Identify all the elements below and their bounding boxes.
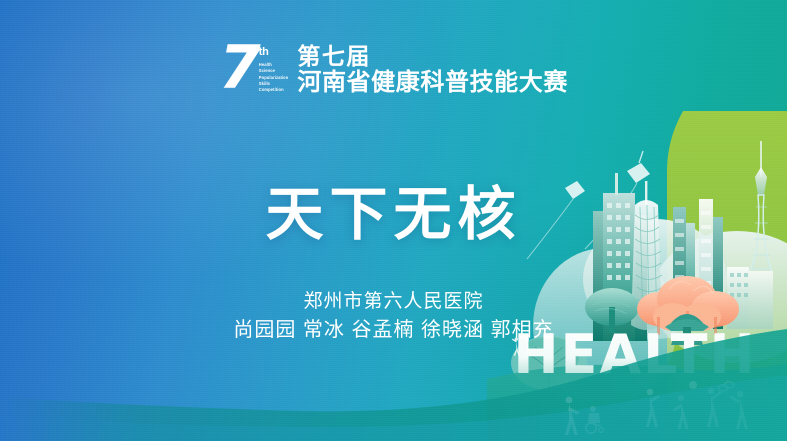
presenter-names: 尚园园 常冰 谷孟楠 徐晓涵 郭相充: [0, 316, 787, 345]
english-line-1: Health: [259, 62, 289, 67]
edition-badge: 7 th Health Science Popularization Skill…: [219, 44, 288, 93]
organization-name: 郑州市第六人民医院: [0, 288, 787, 316]
event-title-line-2: 河南省健康科普技能大赛: [297, 71, 568, 95]
english-subtitle-lines: Health Science Popularization Skills Com…: [259, 62, 289, 92]
english-line-5: Competition: [259, 87, 289, 92]
english-line-2: Science: [259, 68, 289, 73]
event-logo-lockup: 7 th Health Science Popularization Skill…: [0, 44, 787, 95]
event-title-line-1: 第七届: [297, 45, 568, 68]
credits-block: 郑州市第六人民医院 尚园园 常冰 谷孟楠 徐晓涵 郭相充: [0, 288, 787, 345]
edition-ordinal: th: [259, 47, 289, 58]
page-title: 天下无核: [0, 186, 787, 244]
english-line-4: Skills: [259, 81, 289, 86]
english-line-3: Popularization: [259, 75, 289, 80]
edition-number: 7: [219, 44, 257, 93]
presentation-slide: HEALTH: [0, 0, 787, 441]
